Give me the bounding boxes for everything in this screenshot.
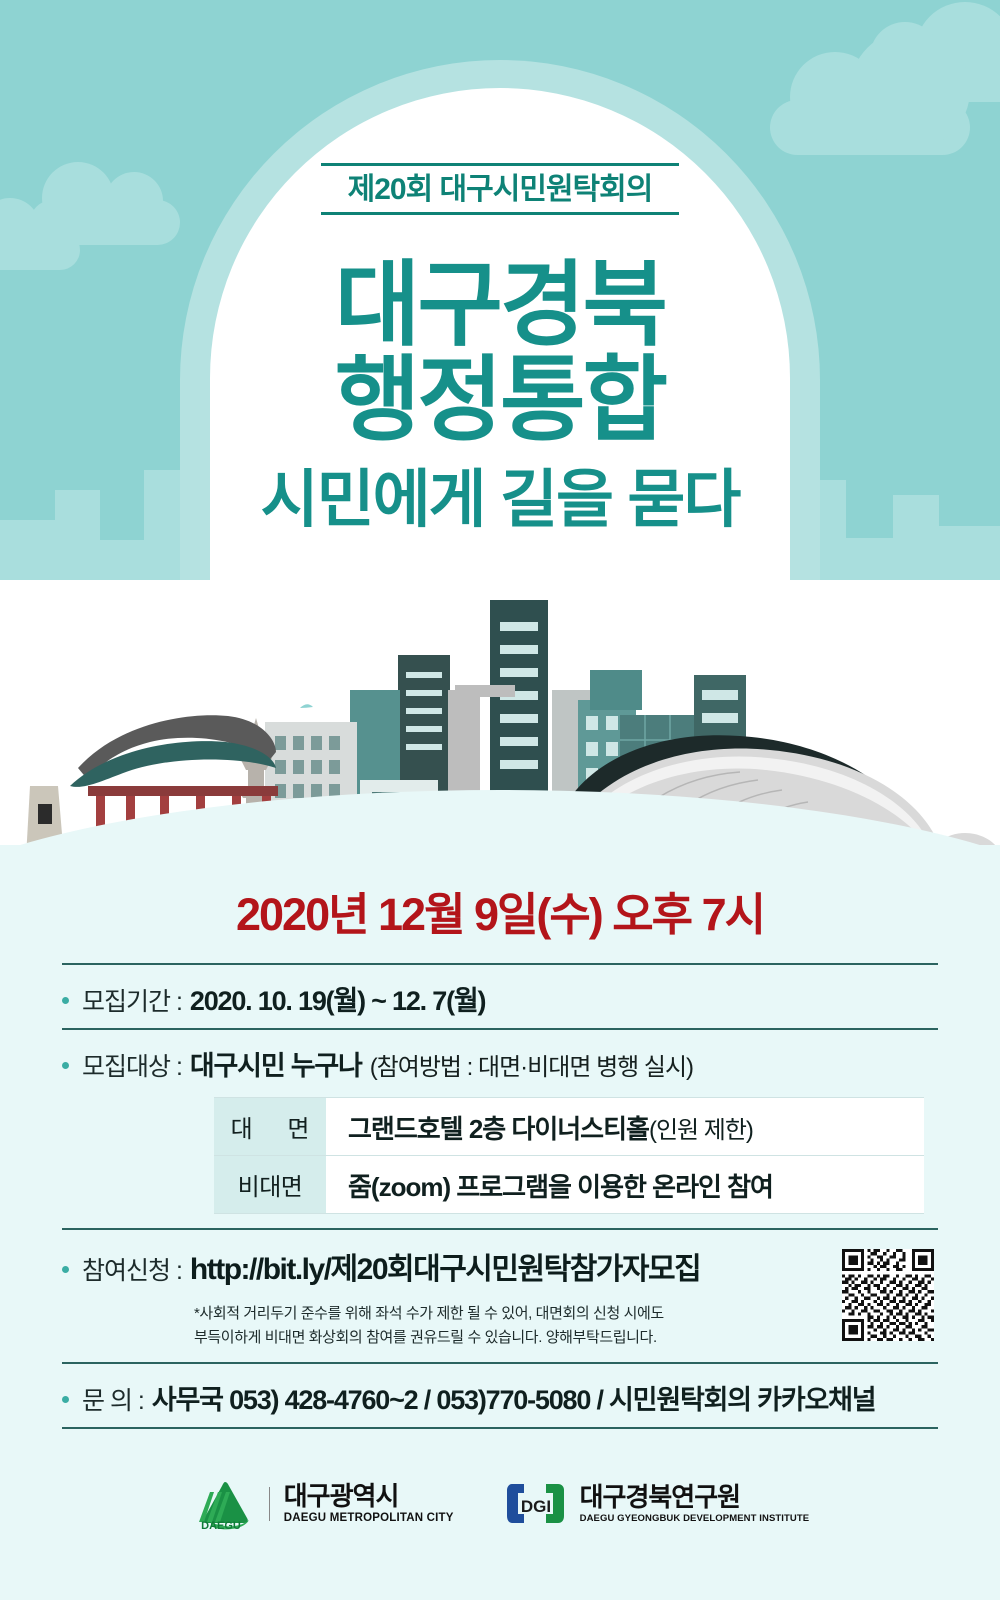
apply-note-line2: 부득이하게 비대면 화상회의 참여를 권유드릴 수 있습니다. 양해부탁드립니다…: [194, 1326, 774, 1350]
method-value-offline-light: (인원 제한): [649, 1117, 753, 1144]
dgi-logo: DGI 대구경북연구원 DAEGU GYEONGBUK DEVELOPMENT …: [506, 1482, 810, 1526]
method-key-online-text: 비대면: [238, 1167, 303, 1202]
method-table: 대 면 그랜드호텔 2층 다이너스티홀(인원 제한) 비대면 줌(zoom) 프…: [214, 1097, 924, 1214]
daegu-name-ko: 대구광역시: [284, 1483, 454, 1509]
info-row-contact: 문 의 : 사무국 053) 428-4760~2 / 053)770-5080…: [62, 1364, 938, 1427]
title-block: 대구경북 행정통합 시민에게 길을 묻다: [0, 258, 1000, 535]
divider: [62, 1427, 938, 1429]
daegu-city-logo: DAEGU 대구광역시 DAEGU METROPOLITAN CITY: [191, 1478, 454, 1530]
bullet-icon: [62, 1266, 69, 1273]
daegu-mountain-icon: DAEGU: [191, 1478, 255, 1530]
apply-note: *사회적 거리두기 준수를 위해 좌석 수가 제한 될 수 있어, 대면회의 신…: [194, 1302, 774, 1350]
table-row: 대 면 그랜드호텔 2층 다이너스티홀(인원 제한): [214, 1098, 924, 1156]
kicker-text: 제20회 대구시민원탁회의: [0, 166, 1000, 212]
info-block: 모집기간 : 2020. 10. 19(월) ~ 12. 7(월) 모집대상 :…: [62, 963, 938, 1429]
contact-label: 문 의 :: [82, 1381, 144, 1417]
dgi-name-en: DAEGU GYEONGBUK DEVELOPMENT INSTITUTE: [580, 1514, 810, 1524]
bullet-icon: [62, 1396, 69, 1403]
apply-url-link[interactable]: http://bit.ly/제20회대구시민원탁참가자모집: [190, 1244, 700, 1288]
logo-divider: [269, 1487, 270, 1521]
footer-logos: DAEGU 대구광역시 DAEGU METROPOLITAN CITY DGI …: [0, 1478, 1000, 1530]
page-title-line2: 행정통합: [0, 353, 1000, 448]
period-label: 모집기간 :: [82, 982, 182, 1018]
info-row-period: 모집기간 : 2020. 10. 19(월) ~ 12. 7(월): [62, 965, 938, 1028]
kicker-rule-bottom: [321, 212, 679, 215]
method-value-offline-bold: 그랜드호텔 2층 다이너스티홀: [348, 1114, 649, 1144]
contact-value: 사무국 053) 428-4760~2 / 053)770-5080 / 시민원…: [152, 1378, 876, 1417]
bullet-icon: [62, 1062, 69, 1069]
method-value-offline: 그랜드호텔 2층 다이너스티홀(인원 제한): [326, 1098, 924, 1155]
method-key-online: 비대면: [214, 1156, 326, 1213]
apply-label: 참여신청 :: [82, 1251, 182, 1287]
bullet-icon: [62, 997, 69, 1004]
info-row-target: 모집대상 : 대구시민 누구나 (참여방법 : 대면·비대면 병행 실시): [62, 1030, 938, 1093]
method-value-online-bold: 줌(zoom) 프로그램을 이용한 온라인 참여: [348, 1172, 773, 1202]
daegu-mark-text: DAEGU: [201, 1520, 241, 1530]
target-value: 대구시민 누구나: [190, 1044, 362, 1083]
page-title-line1: 대구경북: [0, 258, 1000, 353]
dgi-name-ko: 대구경북연구원: [580, 1484, 810, 1510]
table-row: 비대면 줌(zoom) 프로그램을 이용한 온라인 참여: [214, 1156, 924, 1214]
method-key-offline-text: 대 면: [217, 1109, 324, 1144]
event-date: 2020년 12월 9일(수) 오후 7시: [0, 878, 1000, 943]
page-subtitle: 시민에게 길을 묻다: [0, 466, 1000, 535]
kicker-block: 제20회 대구시민원탁회의: [0, 163, 1000, 215]
target-label: 모집대상 :: [82, 1047, 182, 1083]
target-method-note: (참여방법 : 대면·비대면 병행 실시): [370, 1047, 693, 1082]
poster-root: 제20회 대구시민원탁회의 대구경북 행정통합 시민에게 길을 묻다 2020년…: [0, 0, 1000, 1600]
daegu-name-en: DAEGU METROPOLITAN CITY: [284, 1513, 454, 1525]
apply-note-line1: *사회적 거리두기 준수를 위해 좌석 수가 제한 될 수 있어, 대면회의 신…: [194, 1302, 774, 1326]
period-value: 2020. 10. 19(월) ~ 12. 7(월): [190, 979, 485, 1018]
method-key-offline: 대 면: [214, 1098, 326, 1155]
daegu-logo-text: 대구광역시 DAEGU METROPOLITAN CITY: [284, 1483, 454, 1525]
cloud-icon: [770, 100, 970, 155]
dgi-mark-text: DGI: [521, 1497, 551, 1516]
qr-code-icon[interactable]: [842, 1249, 934, 1341]
dgi-logo-text: 대구경북연구원 DAEGU GYEONGBUK DEVELOPMENT INST…: [580, 1484, 810, 1524]
info-row-apply: 참여신청 : http://bit.ly/제20회대구시민원탁참가자모집: [62, 1230, 938, 1298]
dgi-mark-icon: DGI: [506, 1482, 568, 1526]
method-value-online: 줌(zoom) 프로그램을 이용한 온라인 참여: [326, 1156, 924, 1213]
